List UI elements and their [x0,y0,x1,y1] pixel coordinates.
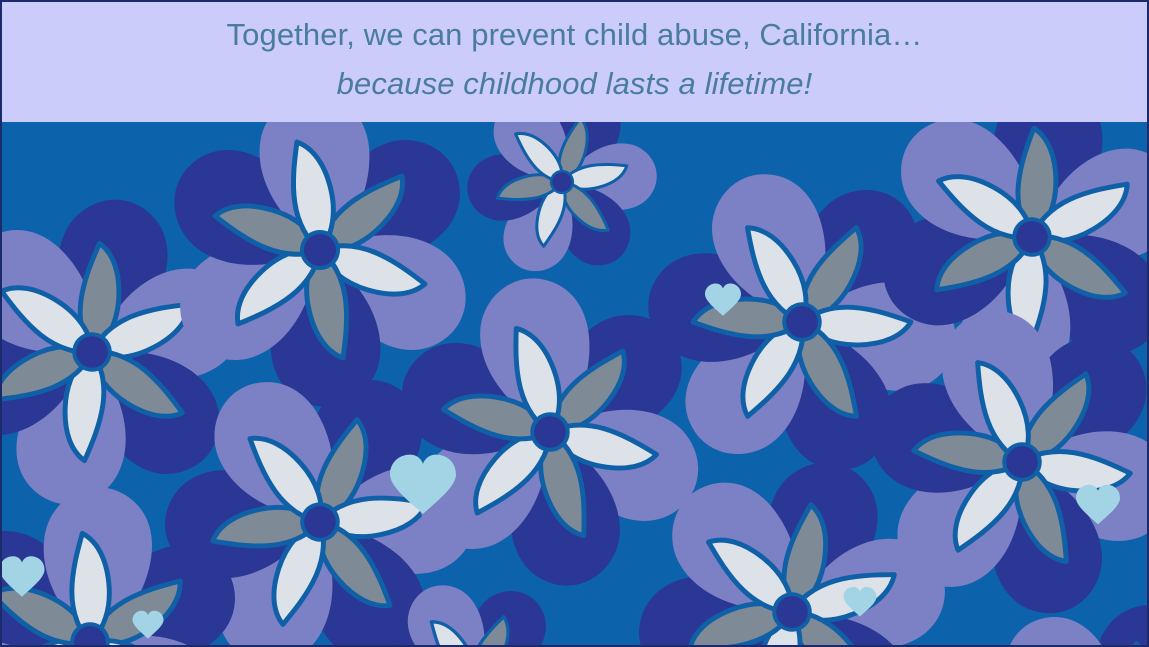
pinwheel-pattern-svg [2,122,1147,645]
headline-primary: Together, we can prevent child abuse, Ca… [227,10,923,60]
banner-slide: Together, we can prevent child abuse, Ca… [0,0,1149,647]
headline-secondary: because childhood lasts a lifetime! [337,60,813,108]
header-band: Together, we can prevent child abuse, Ca… [2,2,1147,122]
pinwheel-pattern-background [2,122,1147,645]
